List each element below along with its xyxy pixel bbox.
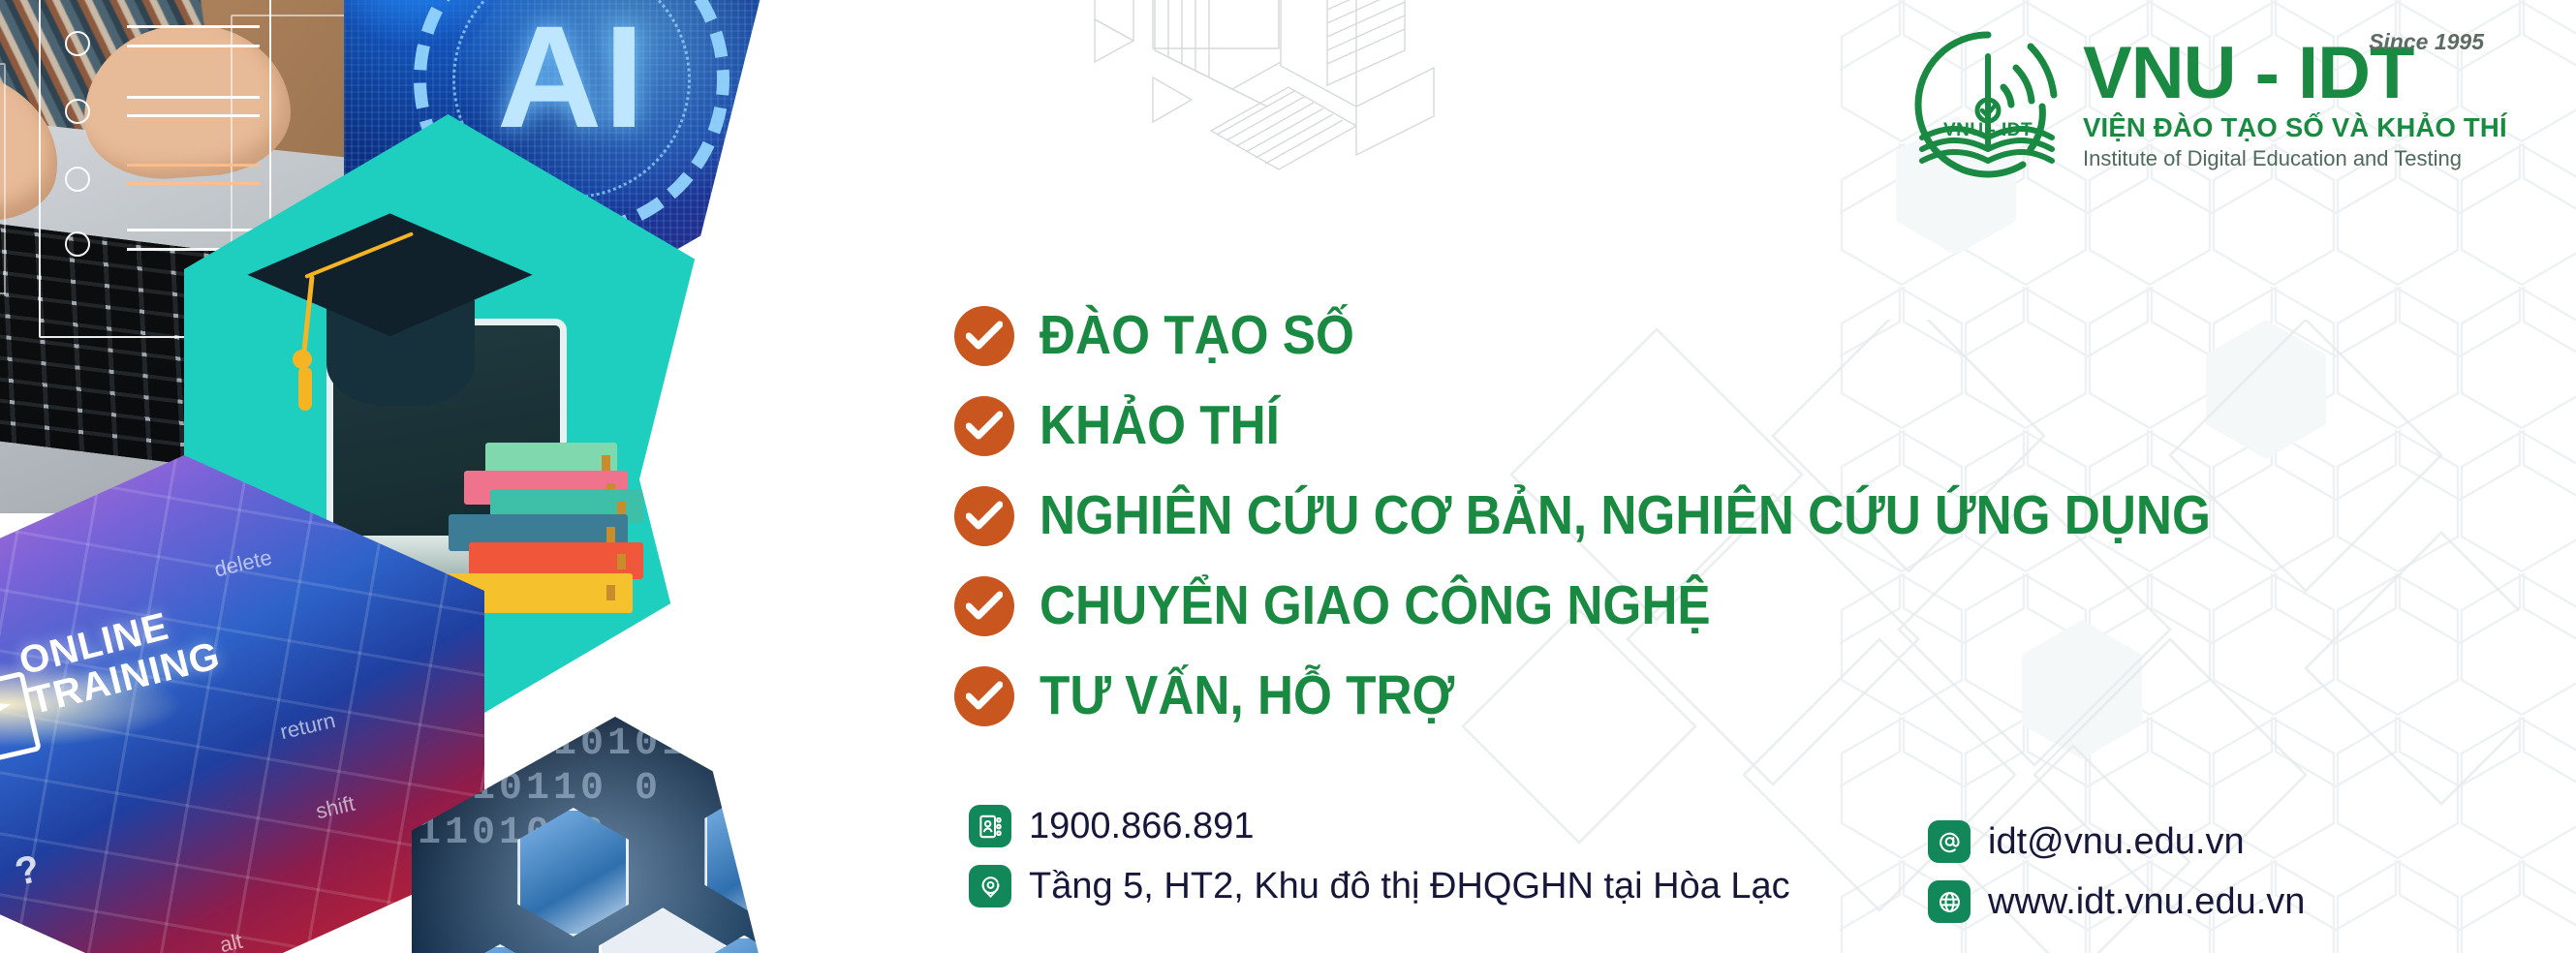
service-item: CHUYỂN GIAO CÔNG NGHỆ	[954, 561, 2341, 651]
service-label: NGHIÊN CỨU CƠ BẢN, NGHIÊN CỨU ỨNG DỤNG	[1040, 488, 2211, 543]
brand-name-english: Institute of Digital Education and Testi…	[2083, 146, 2490, 171]
brand-wordmark: Since 1995 VNU - IDT VIỆN ĐÀO TẠO SỐ VÀ …	[2083, 39, 2490, 171]
check-circle-icon	[954, 396, 1014, 456]
service-item: ĐÀO TẠO SỐ	[954, 291, 2341, 381]
address-row[interactable]: Tầng 5, HT2, Khu đô thị ĐHQGHN tại Hòa L…	[969, 856, 1790, 916]
service-label: CHUYỂN GIAO CÔNG NGHỆ	[1040, 578, 1711, 633]
email-row[interactable]: idt@vnu.edu.vn	[1928, 812, 2305, 872]
service-item: NGHIÊN CỨU CƠ BẢN, NGHIÊN CỨU ỨNG DỤNG	[954, 471, 2341, 561]
vnu-idt-banner: AI	[0, 0, 2576, 953]
isometric-line-watermark	[1008, 0, 1686, 281]
contact-info-left: 1900.866.891 Tầng 5, HT2, Khu đô thị ĐHQ…	[969, 796, 1790, 916]
service-label: KHẢO THÍ	[1040, 398, 1280, 453]
brand-name-vietnamese: VIỆN ĐÀO TẠO SỐ VÀ KHẢO THÍ	[2083, 112, 2490, 143]
contact-info-right: idt@vnu.edu.vn www.idt.vnu.edu.vn	[1928, 812, 2305, 932]
service-label: TƯ VẤN, HỖ TRỢ	[1040, 668, 1454, 723]
service-item: KHẢO THÍ	[954, 381, 2341, 471]
services-list: ĐÀO TẠO SỐ KHẢO THÍ NGHIÊN CỨU CƠ BẢN, N…	[954, 291, 2341, 741]
check-circle-icon	[954, 666, 1014, 726]
hexagon-photo-collage: AI	[0, 0, 901, 953]
phone-number: 1900.866.891	[1029, 808, 1254, 845]
since-label: Since 1995	[2369, 31, 2484, 53]
logo-mark-label: VNU - IDT	[1943, 120, 2033, 140]
contact-book-icon	[969, 805, 1011, 847]
address-text: Tầng 5, HT2, Khu đô thị ĐHQGHN tại Hòa L…	[1029, 868, 1790, 905]
website-url: www.idt.vnu.edu.vn	[1988, 883, 2305, 920]
email-address: idt@vnu.edu.vn	[1988, 823, 2245, 860]
vnu-idt-logo-mark: VNU - IDT	[1907, 23, 2069, 186]
brand-logo: VNU - IDT Since 1995 VNU - IDT VIỆN ĐÀO …	[1907, 21, 2488, 205]
check-circle-icon	[954, 576, 1014, 636]
website-row[interactable]: www.idt.vnu.edu.vn	[1928, 872, 2305, 932]
key-alt-label: alt	[218, 930, 245, 953]
globe-icon	[1928, 880, 1971, 923]
check-circle-icon	[954, 306, 1014, 366]
email-at-icon	[1928, 820, 1971, 863]
phone-row[interactable]: 1900.866.891	[969, 796, 1790, 856]
service-item: TƯ VẤN, HỖ TRỢ	[954, 651, 2341, 741]
location-pin-icon	[969, 865, 1011, 907]
service-label: ĐÀO TẠO SỐ	[1040, 308, 1354, 363]
check-circle-icon	[954, 486, 1014, 546]
